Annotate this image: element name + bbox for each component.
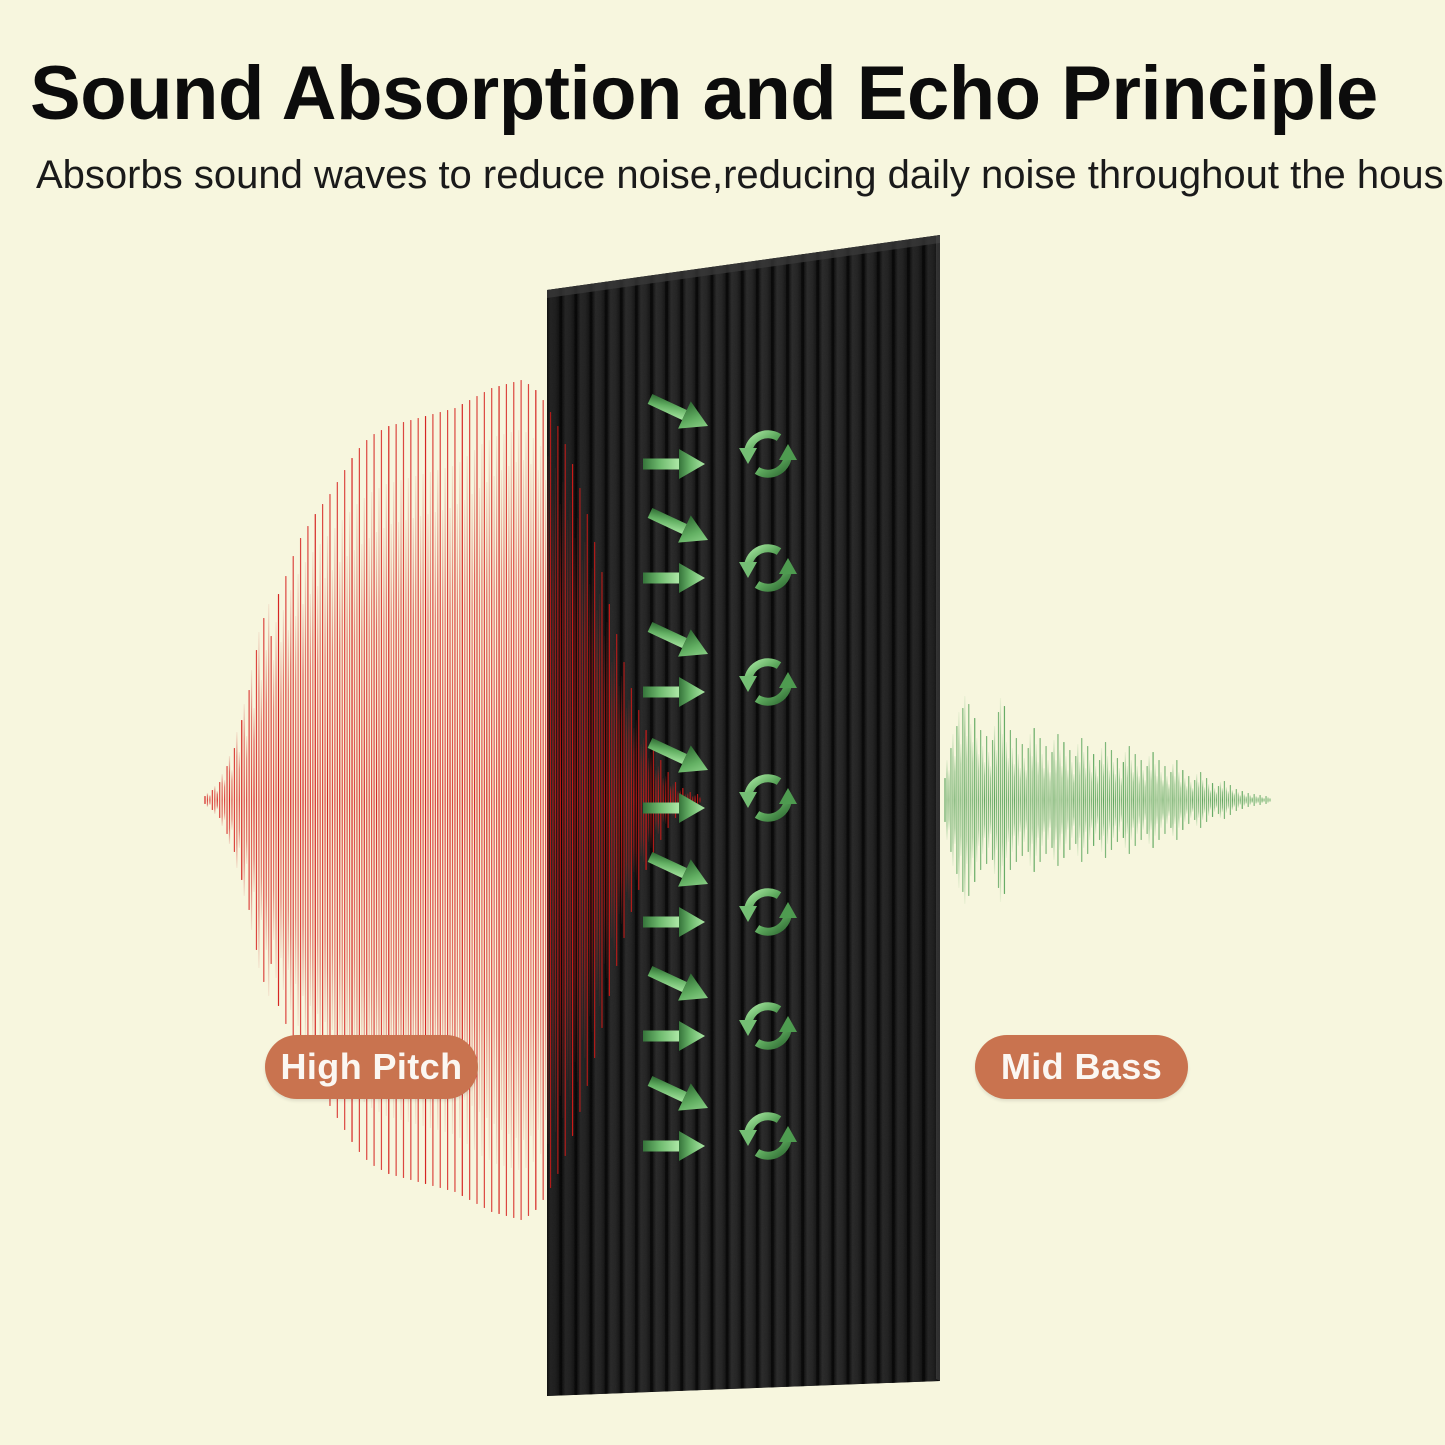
badge-high-pitch[interactable]: High Pitch [265, 1035, 478, 1099]
badge-high-pitch-label: High Pitch [281, 1046, 463, 1088]
badge-mid-bass-label: Mid Bass [1001, 1046, 1162, 1088]
waveform-layer [0, 0, 1445, 1445]
infographic-root: Sound Absorption and Echo Principle Abso… [0, 0, 1445, 1445]
mid-bass-waveform [944, 696, 1270, 904]
badge-mid-bass[interactable]: Mid Bass [975, 1035, 1188, 1099]
